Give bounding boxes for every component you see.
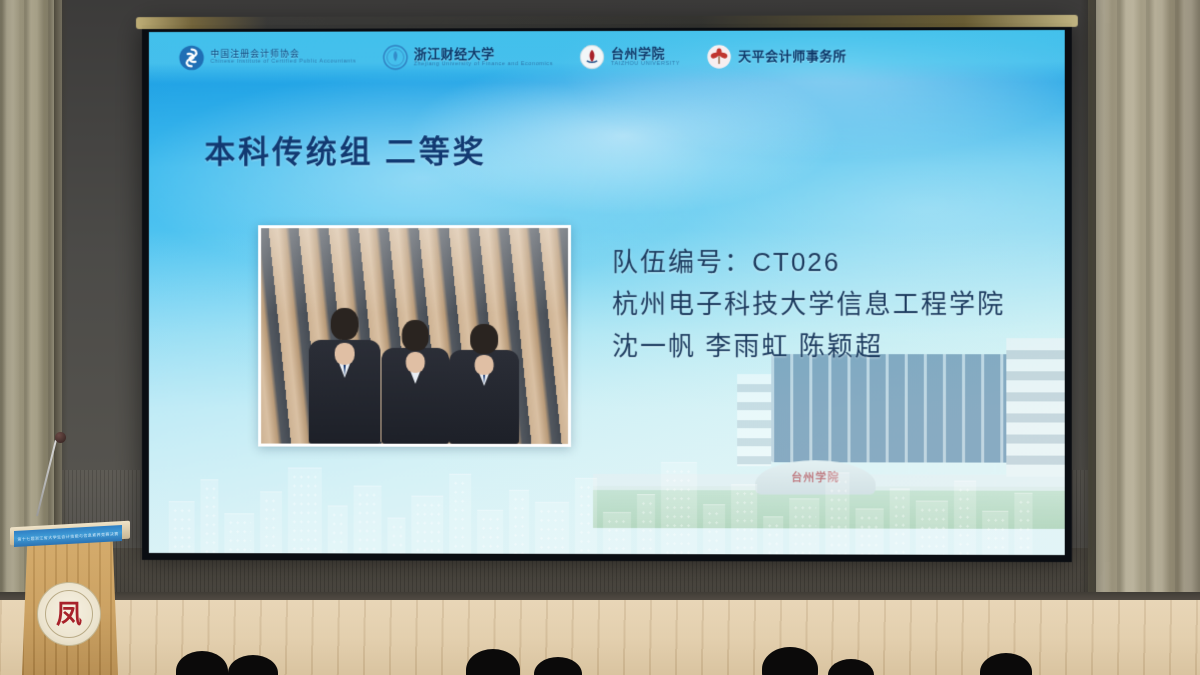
team-photo — [258, 225, 571, 447]
partner-2-name-cn: 浙江财经大学 — [414, 47, 553, 61]
member-center-head — [402, 320, 429, 351]
auditorium-scene: 台州学院 — [0, 0, 1200, 675]
city-skyline-graphic — [149, 441, 1065, 555]
audience-head — [176, 651, 228, 675]
slide-title: 本科传统组 二等奖 — [204, 126, 486, 171]
podium-banner-text: 第十七届浙江省大学生会计技能与信息素养竞赛决赛 — [17, 531, 118, 542]
partner-3-name-cn: 台州学院 — [611, 47, 680, 61]
audience-head — [980, 653, 1032, 675]
team-id-line: 队伍编号：CT026 — [612, 241, 1005, 283]
partner-1-name-cn: 中国注册会计师协会 — [210, 50, 356, 60]
tianping-flower-icon — [706, 44, 732, 70]
partner-4-name-cn: 天平会计师事务所 — [738, 50, 846, 64]
team-member-right — [446, 324, 522, 444]
zufe-crest-icon — [382, 44, 408, 70]
member-right-head — [470, 324, 498, 354]
member-center-face — [406, 352, 425, 373]
team-info-block: 队伍编号：CT026 杭州电子科技大学信息工程学院 沈一帆 李雨虹 陈颖超 — [612, 241, 1005, 368]
partner-3-name-en: TAIZHOU UNIVERSITY — [611, 60, 680, 67]
right-stage-curtain — [1088, 0, 1200, 620]
member-left-face — [335, 343, 355, 365]
microphone-head-icon — [55, 432, 66, 443]
team-school-line: 杭州电子科技大学信息工程学院 — [612, 283, 1005, 325]
team-members-line: 沈一帆 李雨虹 陈颖超 — [612, 325, 1005, 367]
team-member-left — [307, 308, 383, 444]
projection-screen: 台州学院 — [149, 30, 1065, 555]
member-left-head — [331, 308, 359, 340]
partner-logo-2: 浙江财经大学 Zhejiang University of Finance an… — [382, 44, 553, 70]
partner-logo-1: 中国注册会计师协会 Chinese Institute of Certified… — [179, 45, 356, 71]
audience-head — [534, 657, 582, 675]
audience-head — [228, 655, 278, 675]
audience-head — [466, 649, 520, 675]
projection-screen-frame: 台州学院 — [142, 23, 1072, 562]
partner-1-name-en: Chinese Institute of Certified Public Ac… — [210, 59, 356, 66]
partner-logo-4: 天平会计师事务所 — [706, 43, 846, 69]
swirl-emblem-icon — [179, 45, 205, 71]
audience-head — [762, 647, 818, 675]
audience-silhouettes — [0, 605, 1200, 675]
partner-logo-bar: 中国注册会计师协会 Chinese Institute of Certified… — [149, 30, 1065, 84]
team-member-center — [378, 320, 452, 444]
partner-logo-3: 台州学院 TAIZHOU UNIVERSITY — [579, 44, 680, 70]
audience-head — [828, 659, 874, 675]
partner-2-name-en: Zhejiang University of Finance and Econo… — [414, 61, 553, 68]
tzu-crest-icon — [579, 44, 605, 70]
member-right-face — [475, 355, 494, 375]
